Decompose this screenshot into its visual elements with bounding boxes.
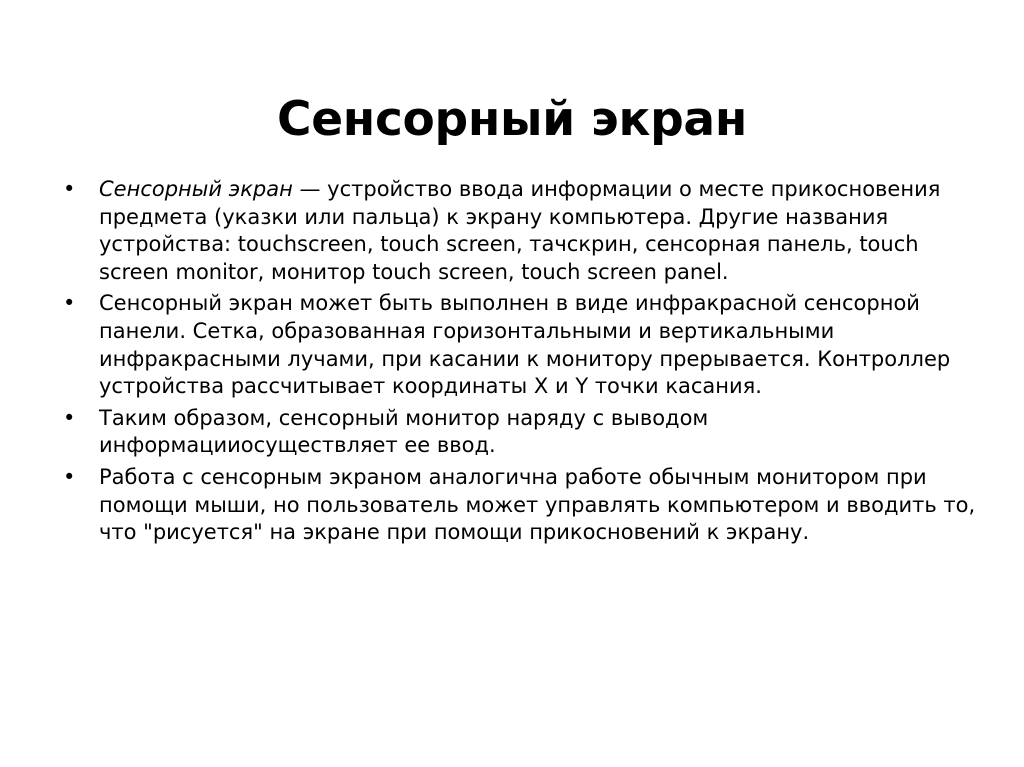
list-item: • Сенсорный экран — устройство ввода инф… [58,176,978,286]
list-item-text: Таким образом, сенсорный монитор наряду … [99,405,978,460]
list-item-text: Сенсорный экран может быть выполнен в ви… [99,290,978,400]
list-item: • Работа с сенсорным экраном аналогична … [58,464,978,547]
list-item-text: Работа с сенсорным экраном аналогична ра… [99,464,978,547]
bullet-point-icon: • [63,464,77,492]
list-item: • Сенсорный экран может быть выполнен в … [58,290,978,400]
bullet-point-icon: • [63,176,77,204]
list-item: • Таким образом, сенсорный монитор наряд… [58,405,978,460]
slide-body: • Сенсорный экран — устройство ввода инф… [58,176,978,547]
slide-canvas: Сенсорный экран • Сенсорный экран — устр… [0,0,1024,767]
list-item-lead-italic: Сенсорный экран [99,177,293,201]
bullet-point-icon: • [63,405,77,433]
list-item-text: Сенсорный экран — устройство ввода инфор… [99,176,978,286]
list-item-body: Таким образом, сенсорный монитор наряду … [99,406,708,458]
bullet-list: • Сенсорный экран — устройство ввода инф… [58,176,978,547]
page-title: Сенсорный экран [0,91,1024,149]
list-item-body: Работа с сенсорным экраном аналогична ра… [99,465,975,544]
list-item-body: Сенсорный экран может быть выполнен в ви… [99,291,950,398]
bullet-point-icon: • [63,290,77,318]
